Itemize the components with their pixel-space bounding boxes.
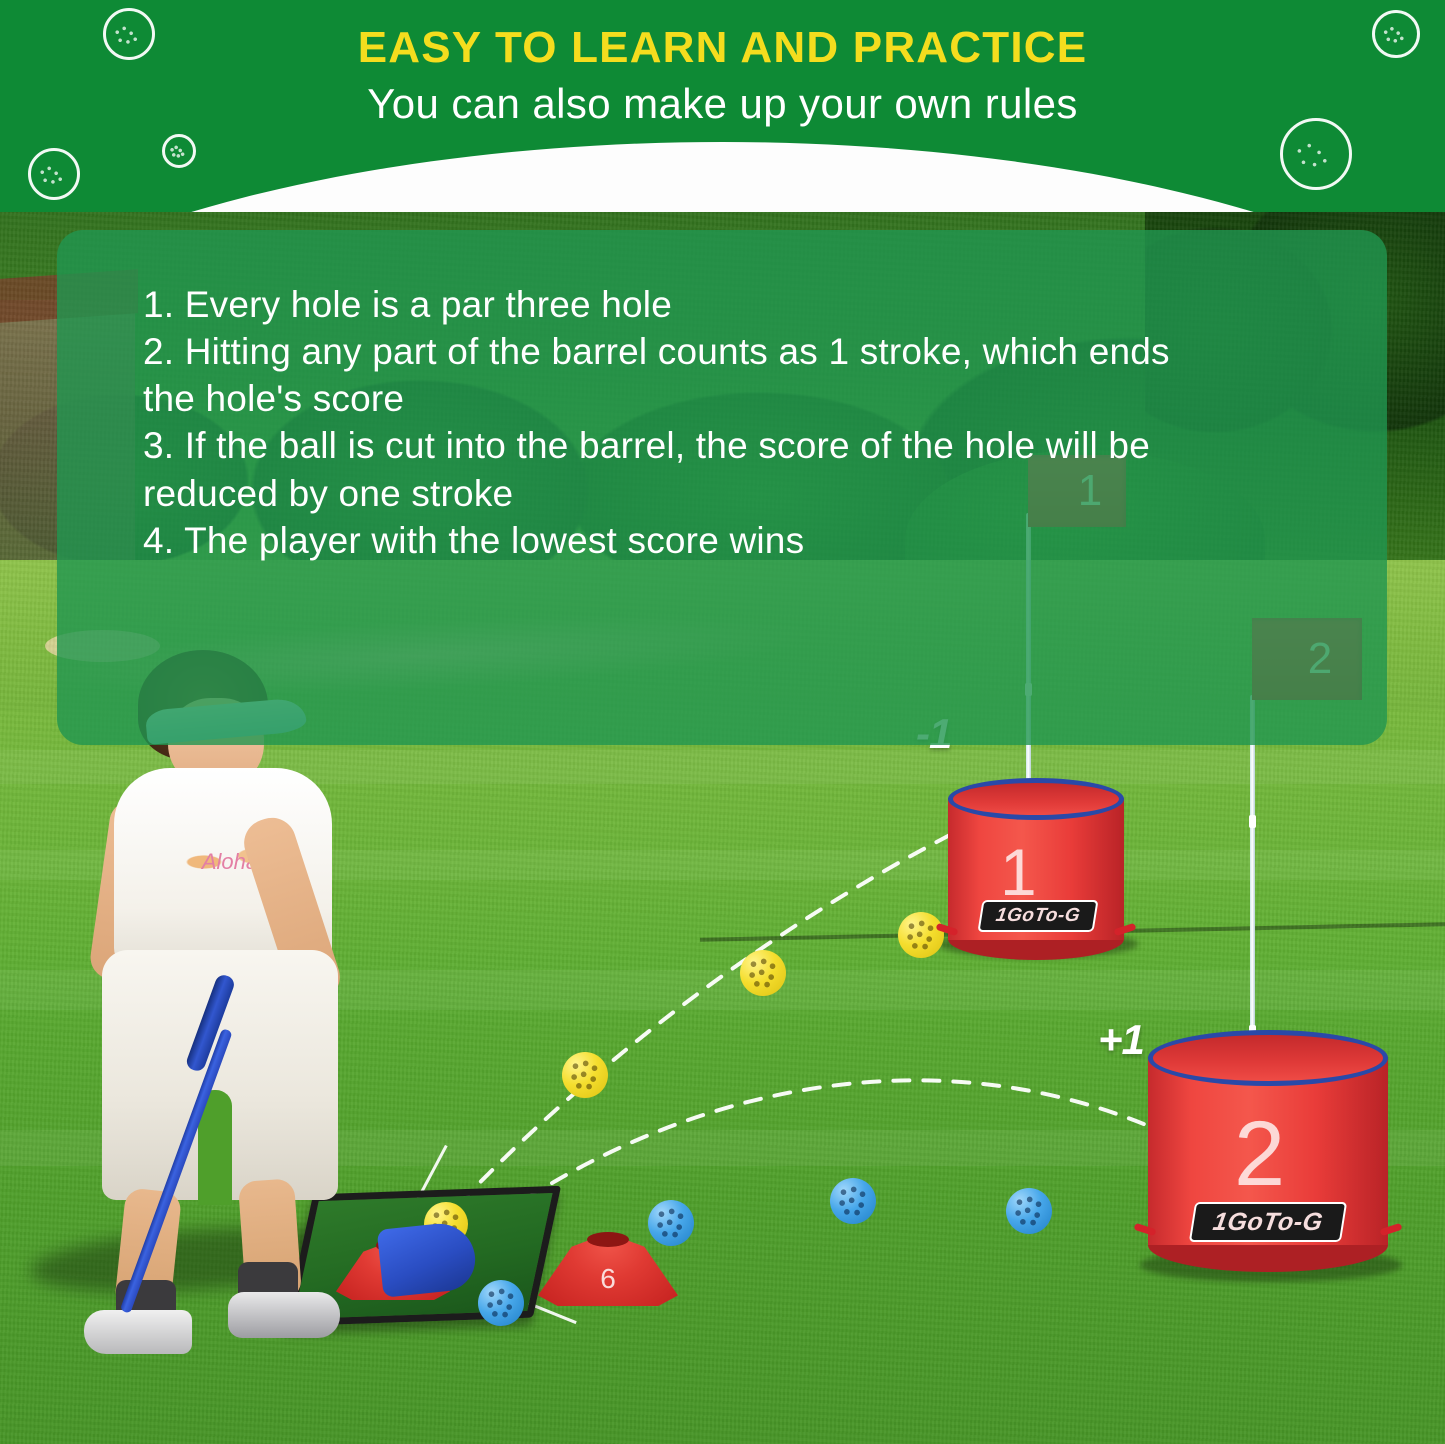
barrel-brand-logo: 1GoTo-G [1189, 1202, 1347, 1242]
rules-panel: 1. Every hole is a par three hole 2. Hit… [57, 230, 1387, 745]
player-right-shoe [228, 1292, 340, 1338]
player-left-shoe [84, 1310, 192, 1354]
barrel-number: 2 [1234, 1102, 1285, 1207]
ball-blue [478, 1280, 524, 1326]
ball-yellow [898, 912, 944, 958]
barrel-rim [1148, 1030, 1388, 1086]
golf-ball-outline-icon [28, 148, 80, 200]
golf-course-scene: 1 1 1GoTo-G -1 2 [0, 150, 1445, 1444]
barrel-2: 2 1GoTo-G [1148, 1030, 1388, 1270]
ball-blue [830, 1178, 876, 1224]
rule-line: 4. The player with the lowest score wins [143, 518, 1317, 563]
golf-ball-outline-icon [162, 134, 196, 168]
barrel-brand-logo: 1GoTo-G [977, 900, 1098, 932]
header-arc-divider [0, 142, 1445, 212]
cone-hole [587, 1232, 629, 1247]
rule-line: the hole's score [143, 376, 1317, 421]
product-infographic: 1 1 1GoTo-G -1 2 [0, 0, 1445, 1444]
child-golfer: Aloha [28, 650, 368, 1370]
ball-holes [904, 918, 939, 953]
ball-blue [1006, 1188, 1052, 1234]
rule-line: 3. If the ball is cut into the barrel, t… [143, 423, 1317, 468]
ball-holes [836, 1184, 871, 1219]
cone-number: 6 [538, 1263, 678, 1295]
ball-holes [746, 956, 781, 991]
ball-holes [484, 1286, 519, 1321]
barrel-rim [948, 778, 1124, 820]
header-banner: EASY TO LEARN AND PRACTICE You can also … [0, 0, 1445, 212]
golf-ball-outline-icon [1280, 118, 1352, 190]
rule-line: 2. Hitting any part of the barrel counts… [143, 329, 1317, 374]
barrel-number: 1 [1000, 834, 1037, 910]
ball-holes [1012, 1194, 1047, 1229]
score-marker-plus-one: +1 [1098, 1016, 1144, 1064]
pole-ferrule [1249, 815, 1256, 828]
ball-yellow [562, 1052, 608, 1098]
page-title: EASY TO LEARN AND PRACTICE [0, 24, 1445, 72]
page-subtitle: You can also make up your own rules [0, 80, 1445, 128]
ball-yellow [740, 950, 786, 996]
rule-line: 1. Every hole is a par three hole [143, 282, 1317, 327]
ball-holes [568, 1058, 603, 1093]
cone-marker-2: 6 [538, 1230, 678, 1306]
barrel-1: 1 1GoTo-G [948, 778, 1124, 958]
rule-line: reduced by one stroke [143, 471, 1317, 516]
